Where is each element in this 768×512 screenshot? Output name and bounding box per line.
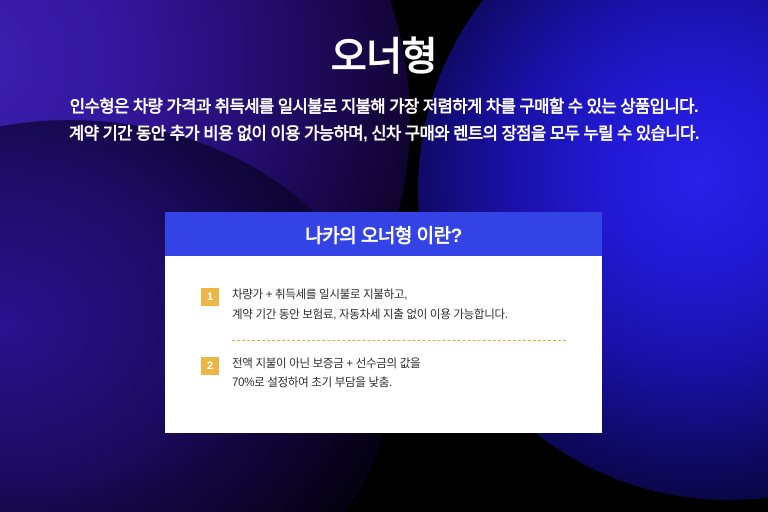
hero-subtitle-line-1: 인수형은 차량 가격과 취득세를 일시불로 지불해 가장 저렴하게 차를 구매할…	[0, 94, 768, 121]
bullet-text: 전액 지불이 아닌 보증금 + 선수금의 값을 70%로 설정하여 초기 부담을…	[232, 355, 420, 395]
hero-subtitle: 인수형은 차량 가격과 취득세를 일시불로 지불해 가장 저렴하게 차를 구매할…	[0, 81, 768, 147]
bullet-text-line-2: 계약 기간 동안 보험료, 자동차세 지출 없이 이용 가능합니다.	[232, 306, 508, 326]
info-card-header: 나카의 오너형 이란?	[165, 212, 602, 256]
bullet-text-line-1: 전액 지불이 아닌 보증금 + 선수금의 값을	[232, 355, 420, 375]
bullet-number-badge: 1	[201, 288, 219, 306]
hero-section: 오너형 인수형은 차량 가격과 취득세를 일시불로 지불해 가장 저렴하게 차를…	[0, 0, 768, 147]
bullet-number-badge: 2	[201, 357, 219, 375]
bullet-text-line-2: 70%로 설정하여 초기 부담을 낮춤.	[232, 374, 420, 394]
info-card-header-title: 나카의 오너형 이란?	[305, 221, 462, 248]
bullet-text-line-1: 차량가 + 취득세를 일시불로 지불하고,	[232, 286, 508, 306]
info-card-body: 1 차량가 + 취득세를 일시불로 지불하고, 계약 기간 동안 보험료, 자동…	[165, 256, 602, 433]
hero-subtitle-line-2: 계약 기간 동안 추가 비용 없이 이용 가능하며, 신차 구매와 렌트의 장점…	[0, 121, 768, 148]
dashed-divider	[232, 340, 566, 341]
list-item: 1 차량가 + 취득세를 일시불로 지불하고, 계약 기간 동안 보험료, 자동…	[201, 286, 566, 326]
list-item: 2 전액 지불이 아닌 보증금 + 선수금의 값을 70%로 설정하여 초기 부…	[201, 355, 566, 395]
info-card: 나카의 오너형 이란? 1 차량가 + 취득세를 일시불로 지불하고, 계약 기…	[165, 212, 602, 433]
page-title: 오너형	[0, 0, 768, 81]
page-root: 오너형 인수형은 차량 가격과 취득세를 일시불로 지불해 가장 저렴하게 차를…	[0, 0, 768, 512]
bullet-text: 차량가 + 취득세를 일시불로 지불하고, 계약 기간 동안 보험료, 자동차세…	[232, 286, 508, 326]
